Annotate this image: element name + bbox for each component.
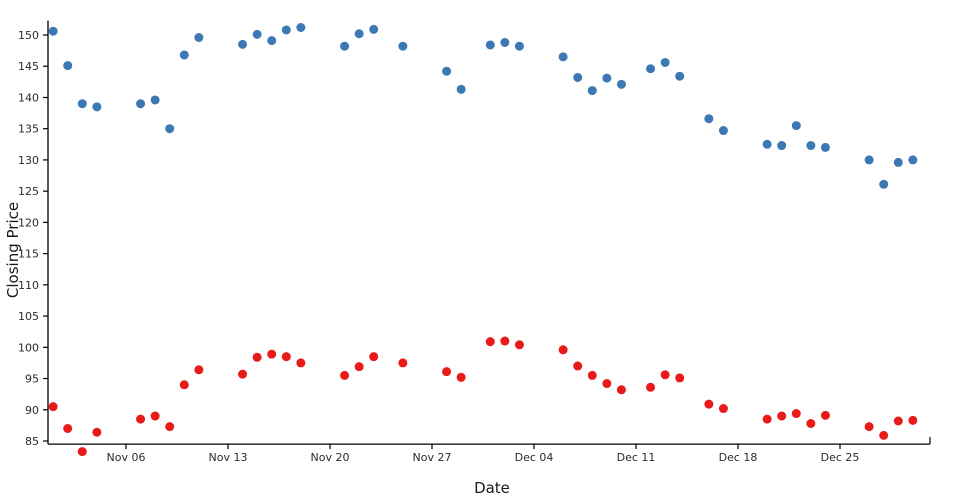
data-point[interactable] [63, 424, 72, 433]
data-point[interactable] [282, 352, 291, 361]
data-point[interactable] [661, 370, 670, 379]
data-point[interactable] [806, 419, 815, 428]
y-tick-label: 105 [18, 310, 39, 323]
data-point[interactable] [792, 121, 801, 130]
data-point[interactable] [879, 180, 888, 189]
y-tick-label: 135 [18, 123, 39, 136]
data-point[interactable] [486, 337, 495, 346]
data-point[interactable] [719, 126, 728, 135]
data-point[interactable] [369, 25, 378, 34]
y-tick-label: 130 [18, 154, 39, 167]
data-point[interactable] [908, 155, 917, 164]
data-point[interactable] [442, 367, 451, 376]
y-axis-ticks: 859095100105110115120125130135140145150 [18, 29, 48, 448]
data-point[interactable] [92, 102, 101, 111]
data-point[interactable] [49, 27, 58, 36]
x-tick-label: Dec 25 [821, 451, 860, 464]
data-point[interactable] [165, 422, 174, 431]
data-point[interactable] [617, 80, 626, 89]
data-point[interactable] [894, 158, 903, 167]
data-point[interactable] [777, 141, 786, 150]
data-point[interactable] [194, 33, 203, 42]
data-point[interactable] [296, 23, 305, 32]
y-tick-label: 90 [25, 404, 39, 417]
data-point[interactable] [136, 415, 145, 424]
data-point[interactable] [267, 350, 276, 359]
x-tick-label: Nov 27 [413, 451, 452, 464]
data-point[interactable] [821, 411, 830, 420]
data-point[interactable] [500, 337, 509, 346]
data-point[interactable] [194, 365, 203, 374]
axis-spines [48, 21, 930, 444]
data-point[interactable] [763, 140, 772, 149]
data-point[interactable] [369, 352, 378, 361]
data-point[interactable] [865, 155, 874, 164]
data-point[interactable] [253, 30, 262, 39]
y-tick-label: 95 [25, 373, 39, 386]
x-tick-label: Dec 11 [617, 451, 656, 464]
data-point[interactable] [908, 416, 917, 425]
data-point[interactable] [719, 404, 728, 413]
data-point[interactable] [763, 415, 772, 424]
data-point[interactable] [78, 447, 87, 456]
x-tick-label: Nov 06 [107, 451, 146, 464]
data-point[interactable] [573, 362, 582, 371]
data-point[interactable] [704, 114, 713, 123]
data-point[interactable] [588, 86, 597, 95]
data-point[interactable] [180, 380, 189, 389]
data-point[interactable] [675, 72, 684, 81]
y-tick-label: 150 [18, 29, 39, 42]
x-axis-title: Date [474, 479, 510, 497]
data-point[interactable] [398, 42, 407, 51]
x-axis-ticks: Nov 06Nov 13Nov 20Nov 27Dec 04Dec 11Dec … [107, 444, 860, 464]
data-point[interactable] [92, 428, 101, 437]
y-tick-label: 145 [18, 60, 39, 73]
y-tick-label: 140 [18, 91, 39, 104]
y-tick-label: 125 [18, 185, 39, 198]
x-tick-label: Dec 04 [515, 451, 554, 464]
data-point[interactable] [617, 385, 626, 394]
x-tick-label: Nov 20 [311, 451, 350, 464]
data-point[interactable] [442, 67, 451, 76]
data-point[interactable] [63, 61, 72, 70]
data-point[interactable] [165, 124, 174, 133]
data-point[interactable] [792, 409, 801, 418]
y-tick-label: 100 [18, 341, 39, 354]
y-axis-title: Closing Price [4, 202, 22, 298]
data-point[interactable] [675, 373, 684, 382]
series-upper-series [49, 23, 918, 189]
data-point[interactable] [559, 52, 568, 61]
data-point[interactable] [602, 379, 611, 388]
data-point[interactable] [486, 40, 495, 49]
data-point[interactable] [821, 143, 830, 152]
data-point[interactable] [238, 370, 247, 379]
data-point[interactable] [894, 417, 903, 426]
data-point[interactable] [602, 74, 611, 83]
series-lower-series [49, 337, 918, 457]
data-point[interactable] [573, 73, 582, 82]
data-point[interactable] [515, 42, 524, 51]
data-point[interactable] [704, 400, 713, 409]
data-point[interactable] [457, 373, 466, 382]
data-points-layer [49, 23, 918, 456]
data-point[interactable] [340, 371, 349, 380]
data-point[interactable] [500, 38, 509, 47]
y-tick-label: 85 [25, 435, 39, 448]
data-point[interactable] [398, 358, 407, 367]
data-point[interactable] [515, 340, 524, 349]
data-point[interactable] [180, 50, 189, 59]
data-point[interactable] [588, 371, 597, 380]
data-point[interactable] [457, 85, 466, 94]
data-point[interactable] [646, 64, 655, 73]
x-tick-label: Dec 18 [719, 451, 758, 464]
data-point[interactable] [49, 402, 58, 411]
data-point[interactable] [879, 431, 888, 440]
data-point[interactable] [355, 362, 364, 371]
data-point[interactable] [661, 58, 670, 67]
data-point[interactable] [78, 99, 87, 108]
plot-canvas: 859095100105110115120125130135140145150 … [0, 0, 960, 500]
data-point[interactable] [253, 353, 262, 362]
data-point[interactable] [296, 358, 305, 367]
data-point[interactable] [282, 26, 291, 35]
x-tick-label: Nov 13 [209, 451, 248, 464]
data-point[interactable] [806, 141, 815, 150]
data-point[interactable] [340, 42, 349, 51]
data-point[interactable] [559, 345, 568, 354]
data-point[interactable] [777, 412, 786, 421]
data-point[interactable] [865, 422, 874, 431]
data-point[interactable] [238, 40, 247, 49]
data-point[interactable] [136, 99, 145, 108]
data-point[interactable] [151, 95, 160, 104]
scatter-chart-figure: 859095100105110115120125130135140145150 … [0, 0, 960, 500]
data-point[interactable] [151, 412, 160, 421]
data-point[interactable] [355, 29, 364, 38]
data-point[interactable] [646, 383, 655, 392]
data-point[interactable] [267, 36, 276, 45]
